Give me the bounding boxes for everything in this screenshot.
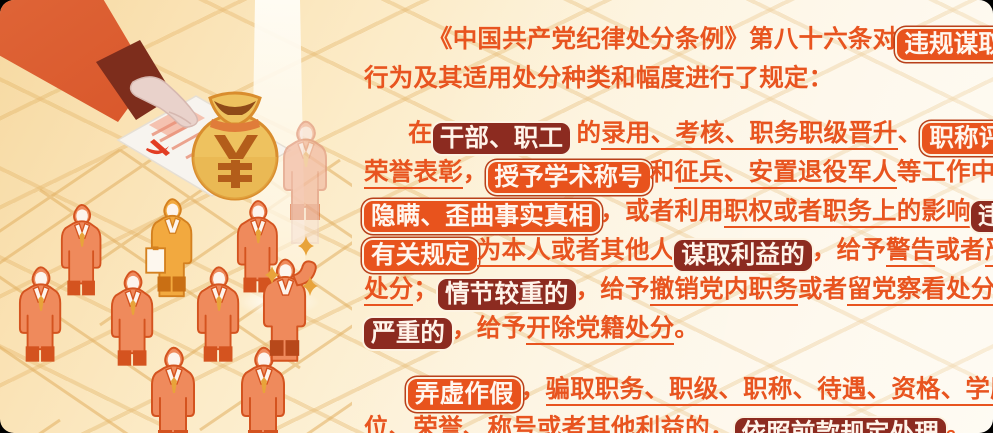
underlined-term: 处分 [364, 276, 413, 306]
ordinance-text-column: 《中国共产党纪律处分条例》第八十六条对违规谋取人事利益行为及其适用处分种类和幅度… [352, 0, 993, 433]
text-run: 行为及其适用处分种类和幅度进行了规定： [364, 65, 833, 92]
underlined-term: 为本人或者其他人 [477, 237, 675, 267]
highlight-dark[interactable]: 违反 [971, 201, 993, 232]
text-run: ， [463, 159, 488, 186]
underlined-term: 留党察看处分 [847, 276, 993, 306]
bribery-handover-illustration [0, 0, 352, 433]
text-line: 隐瞒、歪曲事实真相，或者利用职权或者职务上的影响违反 [364, 192, 975, 231]
text-run: 、 [898, 120, 923, 147]
text-run: ，给予 [576, 276, 650, 303]
underlined-term: 撤销党内职务 [650, 276, 798, 306]
text-run: 和 [650, 159, 675, 186]
underlined-term: 警告 [886, 237, 935, 267]
text-run: 或者 [798, 276, 847, 303]
highlight-orange[interactable]: 弄虚作假 [408, 379, 521, 410]
text-run: 的 [570, 120, 601, 147]
highlight-orange[interactable]: 授予学术称号 [488, 162, 650, 193]
underlined-term: 位、荣誉、称号或者其他利益的 [364, 415, 710, 433]
underlined-term: 严重警告 [985, 237, 993, 267]
underlined-term: 职权或者职务上的影响 [724, 198, 971, 228]
paragraph-p3: 弄虚作假，骗取职务、职级、职称、待遇、资格、学历、学位、荣誉、称号或者其他利益的… [364, 370, 975, 433]
text-run: 在 [408, 120, 433, 147]
text-run: 等工作中， [897, 159, 993, 186]
text-line: 有关规定为本人或者其他人谋取利益的，给予警告或者严重警告 [364, 231, 975, 270]
text-run: ，给予 [812, 237, 886, 264]
underlined-term: 录用、考核、职务职级晋升 [601, 120, 897, 150]
infographic-card: 《中国共产党纪律处分条例》第八十六条对违规谋取人事利益行为及其适用处分种类和幅度… [0, 0, 993, 433]
underlined-term: 骗取职务、职级、职称、待遇、资格、学历、学 [546, 376, 993, 406]
underlined-term: 征兵、安置退役军人 [674, 159, 896, 189]
highlight-orange[interactable]: 隐瞒、歪曲事实真相 [364, 201, 600, 232]
text-line: 位、荣誉、称号或者其他利益的，依照前款规定处理。 [364, 409, 975, 433]
text-run: 。 [946, 415, 971, 433]
highlight-dark[interactable]: 情节较重的 [438, 279, 576, 310]
text-run: ，给予 [452, 315, 526, 342]
text-run: ， [521, 376, 546, 403]
text-run: 。 [674, 315, 699, 342]
highlight-orange[interactable]: 违规谋取人事利益 [897, 29, 993, 60]
highlight-dark[interactable]: 谋取利益的 [674, 240, 812, 271]
text-line: 处分；情节较重的，给予撤销党内职务或者留党察看处分；情节 [364, 270, 975, 309]
text-line: 弄虚作假，骗取职务、职级、职称、待遇、资格、学历、学 [364, 370, 975, 409]
paragraph-p1: 《中国共产党纪律处分条例》第八十六条对违规谋取人事利益行为及其适用处分种类和幅度… [364, 20, 975, 98]
underlined-term: 荣誉表彰 [364, 159, 463, 189]
highlight-dark[interactable]: 严重的 [364, 318, 452, 349]
text-line: 在干部、职工 的录用、考核、职务职级晋升、职称评聘、 [364, 114, 975, 153]
text-run: 《中国共产党纪律处分条例》第八十六条对 [428, 26, 897, 53]
text-line: 荣誉表彰，授予学术称号和征兵、安置退役军人等工作中， [364, 153, 975, 192]
paragraph-p2: 在干部、职工 的录用、考核、职务职级晋升、职称评聘、荣誉表彰，授予学术称号和征兵… [364, 114, 975, 348]
text-run: ，或者利用 [600, 198, 724, 225]
highlight-orange[interactable]: 有关规定 [364, 240, 477, 271]
highlight-orange[interactable]: 职称评聘 [922, 123, 993, 154]
underlined-term: 开除党籍处分 [526, 315, 674, 345]
text-run: 或者 [935, 237, 984, 264]
text-run: ； [413, 276, 438, 303]
text-run: ， [710, 415, 735, 433]
text-line: 《中国共产党纪律处分条例》第八十六条对违规谋取人事利益 [364, 20, 975, 59]
text-line: 行为及其适用处分种类和幅度进行了规定： [364, 59, 975, 98]
highlight-dark[interactable]: 依照前款规定处理 [735, 418, 947, 433]
text-line: 严重的，给予开除党籍处分。 [364, 309, 975, 348]
highlight-dark[interactable]: 干部、职工 [433, 123, 571, 154]
